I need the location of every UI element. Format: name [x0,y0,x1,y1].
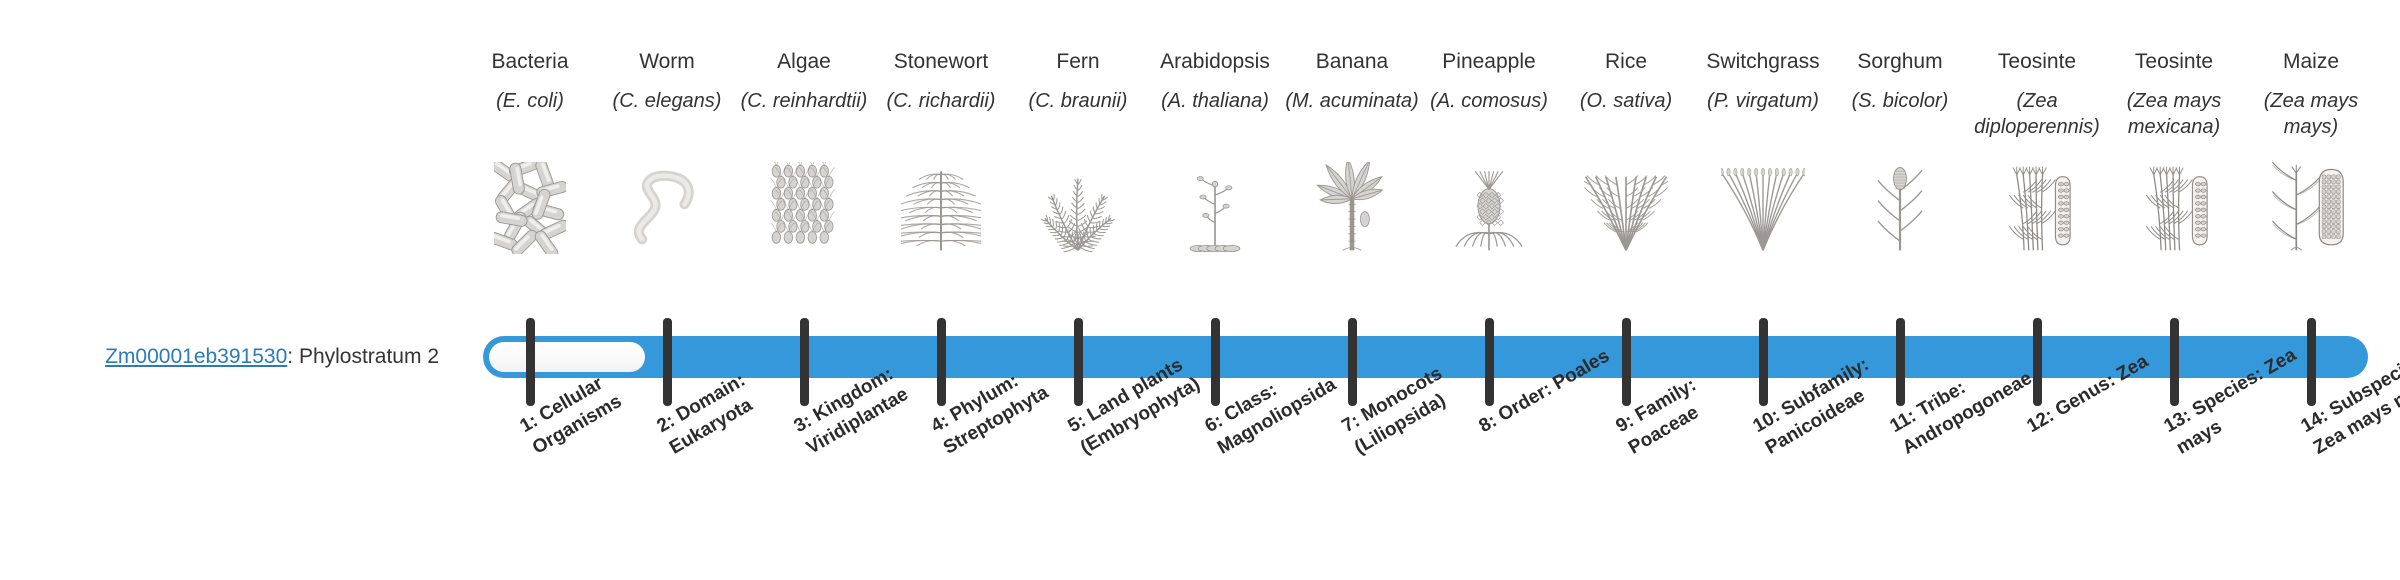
species-header: Banana (M. acuminata) [1284,48,1421,114]
species-common-name: Teosinte [2106,48,2243,76]
species-scientific-name: (Zea mays mays) [2243,88,2380,141]
species-header: Arabidopsis (A. thaliana) [1147,48,1284,114]
species-common-name: Stonewort [873,48,1010,76]
species-scientific-name: (M. acuminata) [1284,88,1421,114]
timeline-tick[interactable] [1759,318,1768,406]
timeline-tick[interactable] [1896,318,1905,406]
timeline-tick[interactable] [1074,318,1083,406]
timeline-tick[interactable] [1622,318,1631,406]
timeline-tick[interactable] [2307,318,2316,406]
species-common-name: Switchgrass [1695,48,1832,76]
species-common-name: Arabidopsis [1147,48,1284,76]
species-header: Bacteria (E. coli) [462,48,599,114]
species-common-name: Sorghum [1832,48,1969,76]
pineapple-icon [1421,162,1558,254]
species-scientific-name: (C. elegans) [599,88,736,114]
phylostratigraphy-timeline: Zm00001eb391530: Phylostratum 2 Bacteria… [0,0,2400,580]
species-scientific-name: (O. sativa) [1558,88,1695,114]
arabidopsis-icon [1147,162,1284,254]
species-scientific-name: (C. braunii) [1010,88,1147,114]
species-scientific-name: (P. virgatum) [1695,88,1832,114]
species-common-name: Maize [2243,48,2380,76]
maize-icon [2243,162,2380,254]
timeline-tick[interactable] [2170,318,2179,406]
gene-label: Zm00001eb391530: Phylostratum 2 [0,336,455,378]
gene-phylostratum-text: : Phylostratum 2 [287,345,439,369]
species-header: Worm (C. elegans) [599,48,736,114]
species-common-name: Worm [599,48,736,76]
fern-icon [1010,162,1147,254]
species-header: Maize (Zea mays mays) [2243,48,2380,141]
gene-label-separator: : [287,345,299,368]
rice-icon [1558,162,1695,254]
timeline-tick[interactable] [663,318,672,406]
species-common-name: Fern [1010,48,1147,76]
timeline-tick[interactable] [1211,318,1220,406]
species-common-name: Teosinte [1969,48,2106,76]
species-header: Teosinte (Zea diploperennis) [1969,48,2106,141]
teosinte-icon [2106,162,2243,254]
species-scientific-name: (E. coli) [462,88,599,114]
teosinte-icon [1969,162,2106,254]
timeline-tick[interactable] [937,318,946,406]
species-header: Teosinte (Zea mays mexicana) [2106,48,2243,141]
species-common-name: Bacteria [462,48,599,76]
species-header: Stonewort (C. richardii) [873,48,1010,114]
species-header: Switchgrass (P. virgatum) [1695,48,1832,114]
banana-icon [1284,162,1421,254]
species-header: Fern (C. braunii) [1010,48,1147,114]
species-scientific-name: (Zea diploperennis) [1969,88,2106,141]
species-common-name: Pineapple [1421,48,1558,76]
species-common-name: Algae [736,48,873,76]
species-header: Algae (C. reinhardtii) [736,48,873,114]
species-scientific-name: (A. comosus) [1421,88,1558,114]
sorghum-icon [1832,162,1969,254]
gene-id-link[interactable]: Zm00001eb391530 [105,345,287,369]
nematode-icon [599,162,736,254]
species-scientific-name: (S. bicolor) [1832,88,1969,114]
stonewort-icon [873,162,1010,254]
species-header: Pineapple (A. comosus) [1421,48,1558,114]
timeline-tick[interactable] [1348,318,1357,406]
species-header: Rice (O. sativa) [1558,48,1695,114]
timeline-tick[interactable] [2033,318,2042,406]
species-common-name: Banana [1284,48,1421,76]
species-scientific-name: (C. reinhardtii) [736,88,873,114]
timeline-tick[interactable] [800,318,809,406]
algae-icon [736,162,873,254]
gene-phylostratum-value: Phylostratum 2 [299,345,439,368]
bacteria-icon [462,162,599,254]
switchgrass-icon [1695,162,1832,254]
species-scientific-name: (Zea mays mexicana) [2106,88,2243,141]
timeline-tick[interactable] [1485,318,1494,406]
species-header: Sorghum (S. bicolor) [1832,48,1969,114]
timeline-tick[interactable] [526,318,535,406]
species-scientific-name: (C. richardii) [873,88,1010,114]
species-common-name: Rice [1558,48,1695,76]
species-scientific-name: (A. thaliana) [1147,88,1284,114]
